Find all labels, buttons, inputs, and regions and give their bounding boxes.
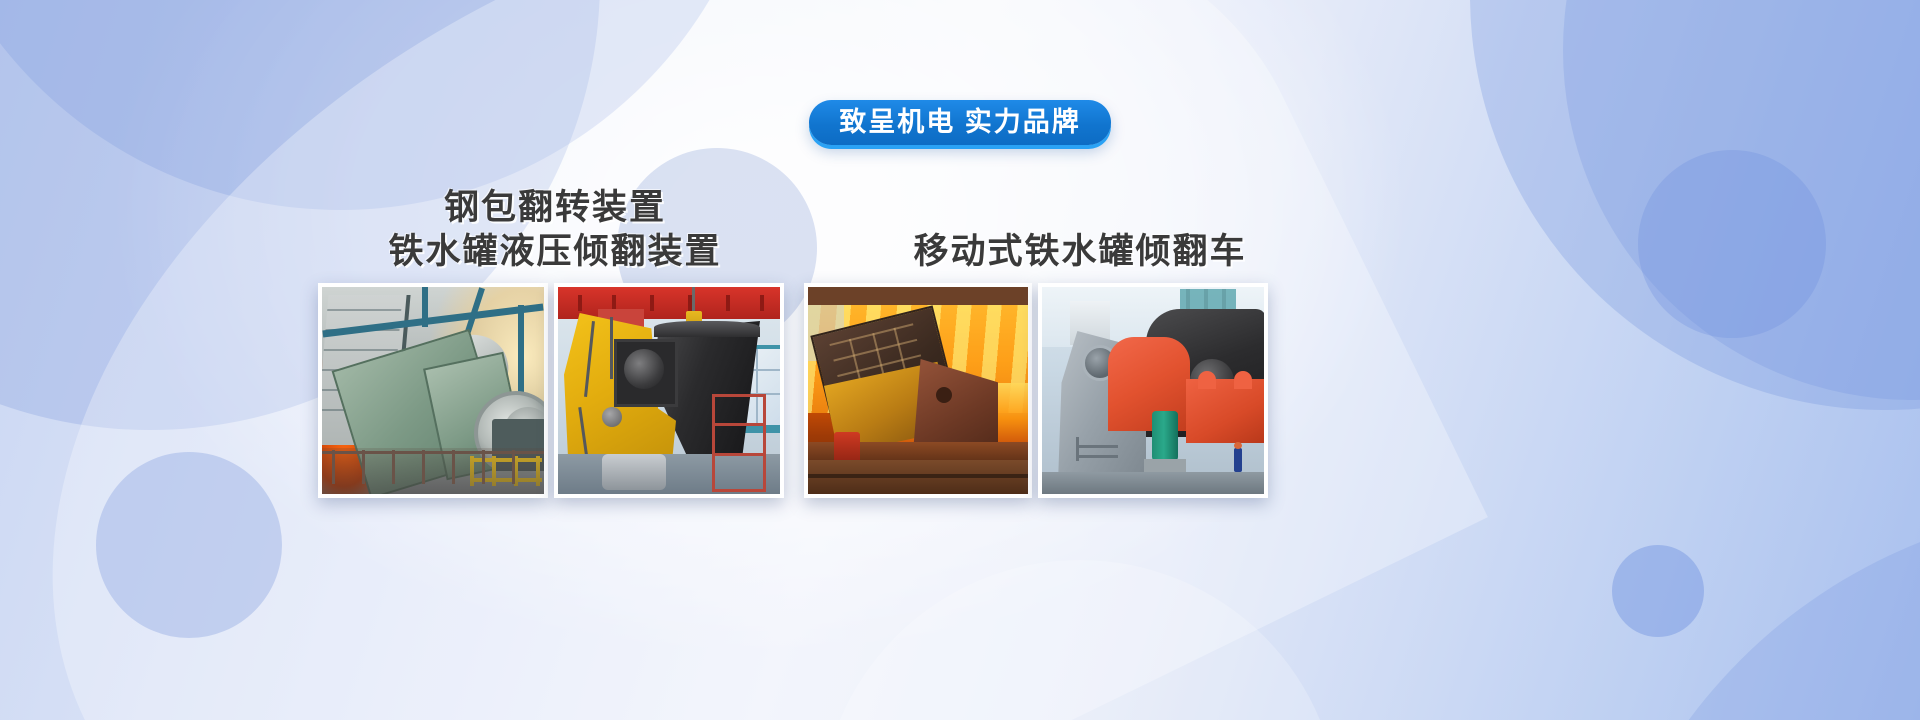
photo-mobile-tipper-furnace	[808, 287, 1028, 494]
headings-row: 钢包翻转装置 铁水罐液压倾翻装置 移动式铁水罐倾翻车	[0, 186, 1920, 296]
heading-left-line2: 铁水罐液压倾翻装置	[335, 230, 775, 274]
photo4-pipe-a	[1076, 445, 1118, 448]
photo1-handrail	[322, 448, 544, 494]
photo3-rail	[808, 474, 1028, 478]
heading-left: 钢包翻转装置 铁水罐液压倾翻装置	[335, 186, 775, 274]
photo-group-left	[318, 283, 784, 498]
photo-frame-4[interactable]	[1038, 283, 1268, 498]
photo-frame-1[interactable]	[318, 283, 548, 498]
photo-ladle-tilter-green	[322, 287, 544, 494]
photo4-pipe-c	[1076, 437, 1079, 461]
photo2-cylinder	[602, 454, 666, 490]
photo3-roof-shadow	[808, 287, 1028, 305]
photo2-crane-beam	[558, 287, 780, 319]
badge-row: 致呈机电 实力品牌	[0, 100, 1920, 145]
photo2-crane-rope	[692, 287, 695, 313]
photo4-orange-saddle	[1186, 379, 1264, 443]
photo2-ladle-rim	[654, 321, 760, 337]
photo4-pipe-b	[1076, 455, 1118, 458]
photo-strip	[318, 283, 1268, 498]
photo-frame-3[interactable]	[804, 283, 1032, 498]
photo-group-right	[804, 283, 1268, 498]
background-circle-small-bottomright	[1612, 545, 1704, 637]
photo-tipper-car-side	[1042, 287, 1264, 494]
photo2-scaffold	[712, 394, 766, 492]
photo-frame-2[interactable]	[554, 283, 784, 498]
photo4-worker	[1234, 448, 1242, 472]
promo-banner: 致呈机电 实力品牌 钢包翻转装置 铁水罐液压倾翻装置 移动式铁水罐倾翻车	[0, 0, 1920, 720]
brand-badge-label: 致呈机电 实力品牌	[839, 100, 1081, 145]
brand-badge[interactable]: 致呈机电 实力品牌	[809, 100, 1111, 145]
photo1-column-a	[422, 287, 428, 327]
heading-right-line1: 移动式铁水罐倾翻车	[845, 230, 1315, 274]
photo4-ground	[1042, 472, 1264, 494]
photo4-hydraulic-cylinder	[1152, 411, 1178, 461]
photo2-hose-b	[610, 317, 613, 379]
photo2-motor-face	[624, 349, 664, 389]
heading-left-line1: 钢包翻转装置	[335, 186, 775, 230]
photo-hydraulic-tipper-yellow	[558, 287, 780, 494]
photo2-pivot-bolt	[602, 407, 622, 427]
heading-right: 移动式铁水罐倾翻车	[845, 230, 1315, 274]
background-circle-bottomright	[1585, 505, 1920, 720]
